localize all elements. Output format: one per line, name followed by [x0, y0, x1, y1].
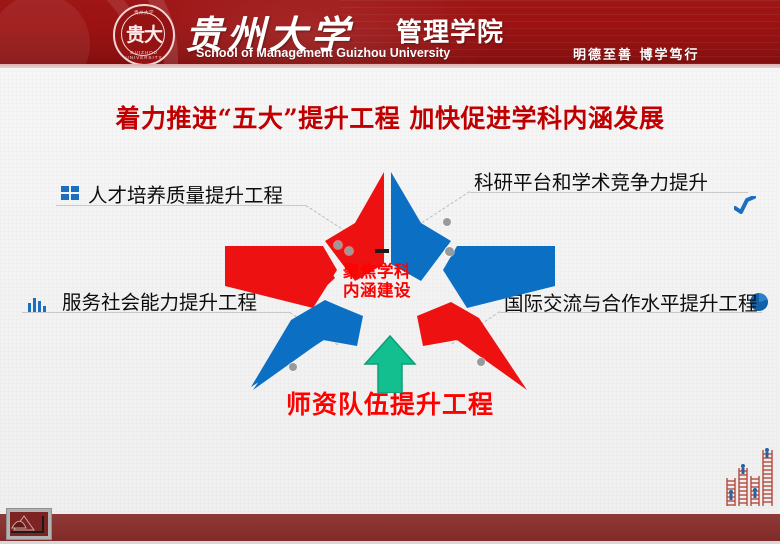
university-motto: 明德至善 博学笃行 — [573, 44, 700, 63]
slide-header: 贵州大学 贵大 GUIZHOU UNIVERSITY 贵州大学 管理学院 Sch… — [0, 0, 780, 68]
squares-icon — [61, 185, 81, 201]
star-dot-top-left-b — [345, 247, 353, 255]
ladders-graphic — [723, 448, 778, 508]
university-name-english: School of Management Guizhou University — [196, 46, 450, 60]
diagram-center-text: 聚焦学科 内涵建设 — [322, 263, 432, 301]
header-ring-inner — [0, 0, 90, 68]
header-divider — [0, 64, 780, 68]
seal-arc-top: 贵州大学 — [115, 10, 173, 16]
bar-chart-icon — [27, 294, 47, 312]
up-arrow-icon — [365, 336, 415, 393]
fan-emblem-icon — [6, 508, 52, 540]
center-text-line-1: 聚焦学科 — [322, 263, 432, 282]
center-tick-mark — [375, 249, 389, 253]
star-dot-center-right — [445, 247, 454, 256]
star-dot-top-left-a — [334, 241, 342, 249]
college-name: 管理学院 — [396, 12, 504, 49]
center-text-line-2: 内涵建设 — [322, 282, 432, 301]
star-dot-bottom-left — [289, 363, 297, 371]
seal-arc-bottom: GUIZHOU UNIVERSITY — [115, 50, 173, 60]
university-seal-icon: 贵州大学 贵大 GUIZHOU UNIVERSITY — [113, 4, 175, 66]
star-arrow-bottom-left — [251, 300, 363, 390]
star-dot-bottom-right — [477, 358, 485, 366]
fan-emblem-inner — [10, 512, 48, 536]
footer-bar — [0, 514, 780, 541]
slide-title: 着力推进“五大”提升工程 加快促进学科内涵发展 — [0, 99, 780, 135]
star-arrow-right — [443, 246, 555, 308]
trendline-icon — [734, 196, 756, 214]
star-arrow-bottom-right — [417, 302, 527, 390]
slide: 贵州大学 贵大 GUIZHOU UNIVERSITY 贵州大学 管理学院 Sch… — [0, 0, 780, 544]
star-arrow-left — [225, 246, 337, 308]
star-dot-top-right — [443, 218, 451, 226]
seal-glyph: 贵大 — [126, 26, 162, 45]
